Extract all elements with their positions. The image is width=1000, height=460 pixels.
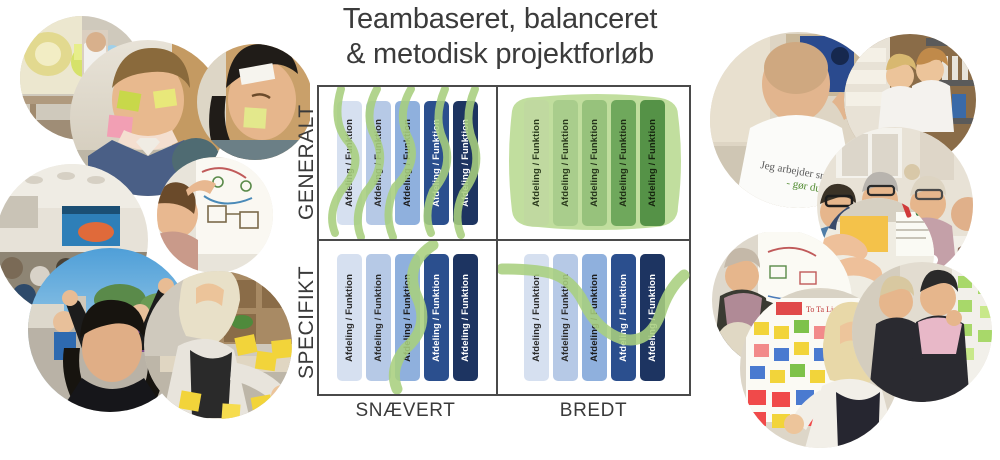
- bar-label: Afdeling / Funktion: [345, 274, 355, 362]
- bar-label: Afdeling / Funktion: [374, 274, 384, 362]
- page-title-line-1: Teambaseret, balanceret: [300, 2, 700, 37]
- bar-label: Afdeling / Funktion: [345, 119, 355, 207]
- bar-label: Afdeling / Funktion: [590, 274, 600, 362]
- bar-bl-3[interactable]: Afdeling / Funktion: [395, 254, 420, 381]
- bar-label: Afdeling / Funktion: [461, 119, 471, 207]
- bar-label: Afdeling / Funktion: [403, 119, 413, 207]
- axis-label-snaevert: SNÆVERT: [317, 400, 494, 422]
- bar-label: Afdeling / Funktion: [432, 119, 442, 207]
- bar-group-top-right: Afdeling / Funktion Afdeling / Funktion …: [498, 87, 691, 239]
- page-title: Teambaseret, balanceret & metodisk proje…: [300, 2, 700, 72]
- bar-bl-1[interactable]: Afdeling / Funktion: [337, 254, 362, 381]
- bar-br-5[interactable]: Afdeling / Funktion: [640, 254, 665, 381]
- slide-canvas: Jeg arbejder smartere - gør du?: [0, 0, 1000, 455]
- bar-label: Afdeling / Funktion: [432, 274, 442, 362]
- quadrant-specifikt-bredt: Afdeling / Funktion Afdeling / Funktion …: [498, 241, 691, 394]
- bar-br-1[interactable]: Afdeling / Funktion: [524, 254, 549, 381]
- quadrant-generalt-snaevert: Afdeling / Funktion Afdeling / Funktion …: [319, 87, 496, 239]
- bar-label: Afdeling / Funktion: [648, 119, 658, 207]
- bar-label: Afdeling / Funktion: [561, 274, 571, 362]
- bar-label: Afdeling / Funktion: [590, 119, 600, 207]
- bar-tl-4[interactable]: Afdeling / Funktion: [424, 101, 449, 225]
- bar-group-bottom-right: Afdeling / Funktion Afdeling / Funktion …: [498, 241, 691, 394]
- bar-group-top-left: Afdeling / Funktion Afdeling / Funktion …: [319, 87, 496, 239]
- bar-br-4[interactable]: Afdeling / Funktion: [611, 254, 636, 381]
- bar-label: Afdeling / Funktion: [648, 274, 658, 362]
- bar-bl-4[interactable]: Afdeling / Funktion: [424, 254, 449, 381]
- bar-tr-1[interactable]: Afdeling / Funktion: [524, 100, 549, 226]
- bar-label: Afdeling / Funktion: [532, 274, 542, 362]
- axis-label-specifikt: SPECIFIKT: [295, 255, 319, 390]
- bar-br-2[interactable]: Afdeling / Funktion: [553, 254, 578, 381]
- bar-label: Afdeling / Funktion: [403, 274, 413, 362]
- matrix-diagram: Afdeling / Funktion Afdeling / Funktion …: [317, 85, 691, 396]
- quadrant-specifikt-snaevert: Afdeling / Funktion Afdeling / Funktion …: [319, 241, 496, 394]
- quadrant-generalt-bredt: Afdeling / Funktion Afdeling / Funktion …: [498, 87, 691, 239]
- bar-label: Afdeling / Funktion: [532, 119, 542, 207]
- bar-label: Afdeling / Funktion: [374, 119, 384, 207]
- axis-label-bredt: BREDT: [496, 400, 691, 422]
- bar-group-bottom-left: Afdeling / Funktion Afdeling / Funktion …: [319, 241, 496, 394]
- bar-tr-5[interactable]: Afdeling / Funktion: [640, 100, 665, 226]
- bar-label: Afdeling / Funktion: [461, 274, 471, 362]
- collage-left-graphic: [0, 0, 310, 455]
- bar-tl-3[interactable]: Afdeling / Funktion: [395, 101, 420, 225]
- bar-label: Afdeling / Funktion: [561, 119, 571, 207]
- photo-collage-left: [0, 0, 310, 455]
- bar-br-3[interactable]: Afdeling / Funktion: [582, 254, 607, 381]
- photo-collage-right: Jeg arbejder smartere - gør du?: [690, 0, 1000, 455]
- bar-tl-5[interactable]: Afdeling / Funktion: [453, 101, 478, 225]
- bar-tl-2[interactable]: Afdeling / Funktion: [366, 101, 391, 225]
- collage-right-graphic: Jeg arbejder smartere - gør du?: [690, 0, 1000, 455]
- page-title-line-2: & metodisk projektforløb: [300, 37, 700, 72]
- bar-bl-2[interactable]: Afdeling / Funktion: [366, 254, 391, 381]
- bar-label: Afdeling / Funktion: [619, 119, 629, 207]
- bar-label: Afdeling / Funktion: [619, 274, 629, 362]
- axis-label-generalt: GENERALT: [295, 97, 319, 227]
- bar-tl-1[interactable]: Afdeling / Funktion: [337, 101, 362, 225]
- bar-tr-4[interactable]: Afdeling / Funktion: [611, 100, 636, 226]
- bar-tr-2[interactable]: Afdeling / Funktion: [553, 100, 578, 226]
- bar-bl-5[interactable]: Afdeling / Funktion: [453, 254, 478, 381]
- bar-tr-3[interactable]: Afdeling / Funktion: [582, 100, 607, 226]
